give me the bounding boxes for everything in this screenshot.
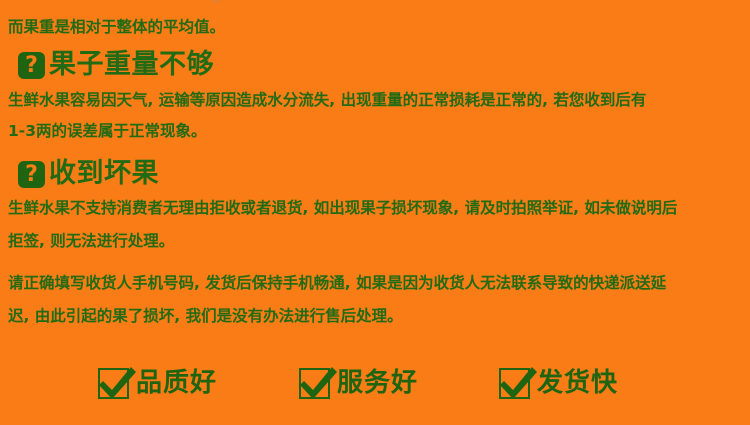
checkmark-icon — [299, 368, 330, 399]
section-damaged-paragraph-2: 拒签, 则无法进行处理。 — [8, 231, 174, 251]
top-cutoff-remnant — [212, 0, 221, 3]
section-damaged-paragraph-1: 生鲜水果不支持消费者无理由拒收或者退货, 如出现果子损坏现象, 请及时拍照举证,… — [8, 198, 677, 218]
feature-label: 发货快 — [537, 368, 618, 398]
section-heading-label: 收到坏果 — [49, 159, 159, 189]
section-heading-damaged: ? 收到坏果 — [18, 159, 159, 189]
checkmark-icon — [98, 368, 129, 399]
checkmark-icon — [499, 368, 530, 399]
intro-line: 而果重是相对于整体的平均值。 — [8, 17, 225, 37]
question-mark-icon: ? — [18, 161, 45, 188]
feature-label: 品质好 — [136, 368, 217, 398]
feature-service: 服务好 — [299, 358, 418, 408]
notice-line-1: 请正确填写收货人手机号码, 发货后保持手机畅通, 如果是因为收货人无法联系导致的… — [8, 273, 666, 293]
notice-line-2: 迟, 由此引起的果了损坏, 我们是没有办法进行售后处理。 — [8, 306, 403, 326]
feature-label: 服务好 — [337, 368, 418, 398]
section-heading-label: 果子重量不够 — [49, 50, 214, 80]
section-weight-paragraph-1: 生鲜水果容易因天气, 运输等原因造成水分流失, 出现重量的正常损耗是正常的, 若… — [8, 90, 646, 110]
question-mark-icon: ? — [18, 52, 45, 79]
section-heading-weight: ? 果子重量不够 — [18, 50, 214, 80]
feature-quality: 品质好 — [98, 358, 217, 408]
section-weight-paragraph-2: 1-3两的误差属于正常现象。 — [8, 121, 207, 141]
promo-page: 而果重是相对于整体的平均值。 ? 果子重量不够 生鲜水果容易因天气, 运输等原因… — [0, 0, 750, 425]
feature-row: 品质好 服务好 发货快 — [0, 358, 750, 408]
feature-shipping: 发货快 — [499, 358, 618, 408]
